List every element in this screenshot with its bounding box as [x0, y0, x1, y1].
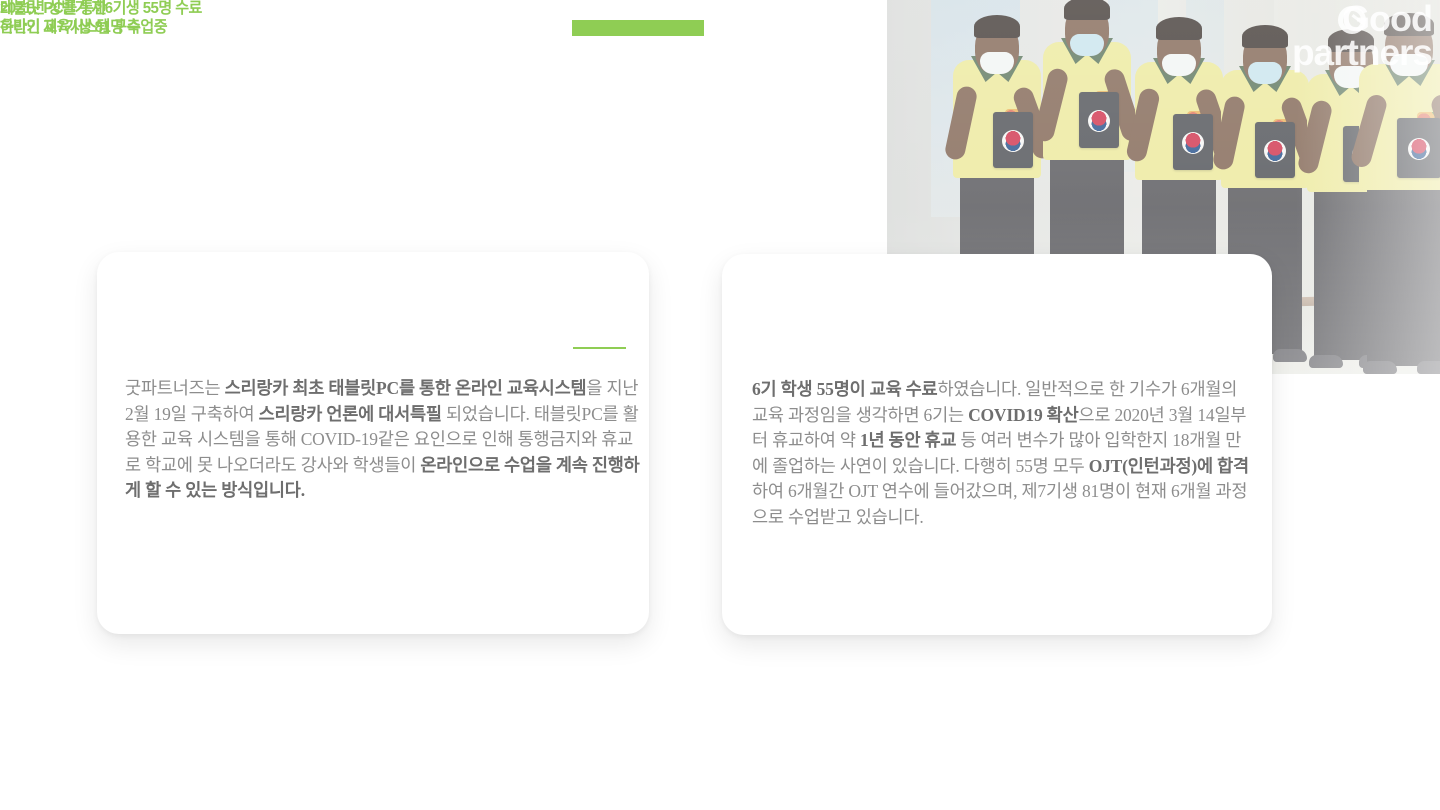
- photo-person: [1357, 0, 1440, 374]
- card-right-body: 6기 학생 55명이 교육 수료하였습니다. 일반적으로 한 기수가 6개월의 …: [752, 377, 1252, 531]
- body-emphasis: 1년 동안 휴교: [860, 430, 956, 450]
- card-left-body: 굿파트너즈는 스리랑카 최초 태블릿PC를 통한 온라인 교육시스템을 지난 2…: [125, 376, 645, 504]
- body-emphasis: 6기 학생 55명이 교육 수료: [752, 379, 937, 399]
- body-text: 하여 6개월간 OJT 연수에 들어갔으며, 제7기생 81명이 현재 6개월 …: [752, 481, 1247, 527]
- card-left-divider: [573, 347, 626, 349]
- top-accent-bar: [572, 20, 704, 36]
- card-right-heading: 2021년 상반기 제6기생 55명 수료 하반기 제7기생 81명 수업중: [0, 0, 202, 38]
- body-text: 굿파트너즈는: [125, 378, 225, 398]
- body-emphasis: 스리랑카 최초 태블릿PC를 통한 온라인 교육시스템: [225, 378, 587, 398]
- body-emphasis: 스리랑카 언론에 대서특필: [259, 404, 442, 424]
- body-emphasis: COVID19 확산: [968, 405, 1078, 425]
- slide-canvas: Good partners 테블릿 PC를 통한 온라인 교육시스템 구축 굿파…: [0, 0, 1440, 810]
- body-emphasis: OJT(인턴과정)에 합격: [1089, 456, 1249, 476]
